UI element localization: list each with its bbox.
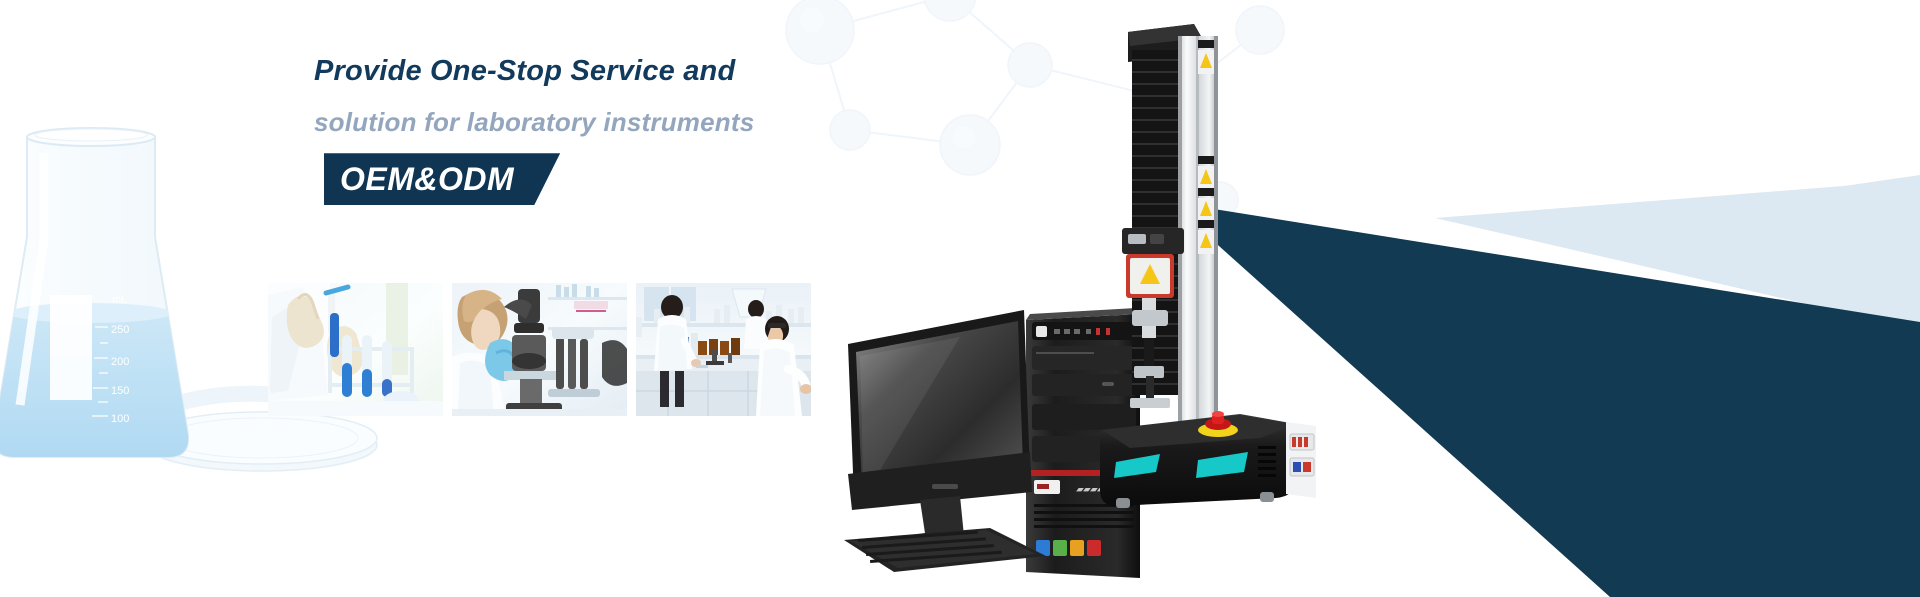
flask-grad-200: 200	[111, 356, 129, 368]
flask-grad-150: 150	[111, 385, 129, 397]
lcd-monitor	[848, 310, 1032, 556]
keyboard	[844, 528, 1046, 572]
flask-unit-label: mL	[112, 294, 127, 306]
promo-banner: mL 250 200 150 100	[0, 0, 1920, 597]
universal-testing-machine	[1090, 10, 1320, 530]
machine-bellows	[1132, 50, 1178, 395]
oem-odm-badge-label: OEM&ODM	[340, 161, 514, 198]
machine-control-cabinet	[1286, 422, 1316, 498]
flask-body: mL 250 200 150 100	[0, 128, 190, 463]
machine-base	[1100, 411, 1296, 508]
oem-odm-badge: OEM&ODM	[324, 153, 560, 205]
flask-grad-100: 100	[111, 413, 129, 425]
photo-lab-technicians	[636, 283, 811, 416]
photo-microscope-researcher	[452, 283, 627, 416]
photo-3-svg	[636, 283, 811, 416]
photo-2-svg	[452, 283, 627, 416]
warning-label-icon	[1198, 188, 1214, 222]
warning-label-icon	[1198, 156, 1214, 190]
photo-1-svg	[268, 283, 443, 416]
warning-label-icon	[1198, 40, 1214, 74]
testing-machine-svg	[1090, 10, 1320, 530]
flask-grad-250: 250	[111, 324, 129, 336]
photo-pipetting-test-tubes	[268, 283, 443, 416]
warning-label-icon	[1198, 220, 1214, 254]
lab-photo-strip	[268, 283, 811, 416]
